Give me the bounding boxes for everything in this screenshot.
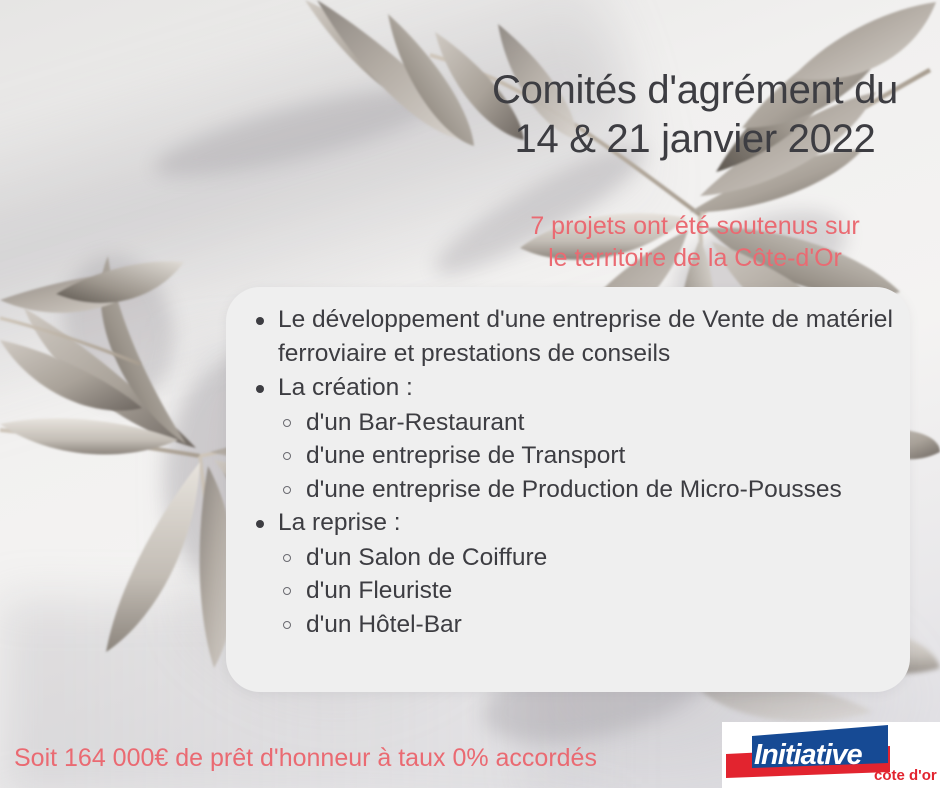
list-item: d'une entreprise de Transport xyxy=(283,439,898,473)
list-item-label: Le développement d'une entreprise de Ven… xyxy=(278,303,898,370)
hollow-bullet-icon xyxy=(283,419,291,427)
list-item: La reprise : xyxy=(242,506,898,540)
list-item-label: d'une entreprise de Production de Micro-… xyxy=(306,476,842,503)
hollow-bullet-icon xyxy=(283,587,291,595)
hollow-bullet-icon xyxy=(283,452,291,460)
list-item-label: d'une entreprise de Transport xyxy=(306,442,625,469)
projects-sublist-creation: d'un Bar-Restaurant d'une entreprise de … xyxy=(242,406,898,507)
bullet-icon xyxy=(256,520,264,528)
bullet-icon xyxy=(256,317,264,325)
list-item-label: d'un Bar-Restaurant xyxy=(306,409,525,436)
poster-subtitle: 7 projets ont été soutenus sur le territ… xyxy=(480,210,910,274)
projects-list: Le développement d'une entreprise de Ven… xyxy=(242,303,898,641)
hollow-bullet-icon xyxy=(283,486,291,494)
list-item: La création : xyxy=(242,371,898,405)
list-item: d'une entreprise de Production de Micro-… xyxy=(283,473,898,507)
projects-card-content: Le développement d'une entreprise de Ven… xyxy=(242,303,898,641)
projects-card: Le développement d'une entreprise de Ven… xyxy=(226,287,910,692)
list-item: d'un Salon de Coiffure xyxy=(283,541,898,575)
list-item-label: d'un Salon de Coiffure xyxy=(306,544,547,571)
list-item: d'un Fleuriste xyxy=(283,574,898,608)
poster-subtitle-line-2: le territoire de la Côte-d'Or xyxy=(480,242,910,274)
poster-canvas: Comités d'agrément du 14 & 21 janvier 20… xyxy=(0,0,940,788)
list-item: d'un Bar-Restaurant xyxy=(283,406,898,440)
list-item: d'un Hôtel-Bar xyxy=(283,608,898,642)
logo-tagline: côte d'or xyxy=(874,767,937,784)
poster-subtitle-line-1: 7 projets ont été soutenus sur xyxy=(480,210,910,242)
bullet-icon xyxy=(256,385,264,393)
poster-title: Comités d'agrément du 14 & 21 janvier 20… xyxy=(470,66,920,164)
hollow-bullet-icon xyxy=(283,554,291,562)
poster-title-line-2: 14 & 21 janvier 2022 xyxy=(470,115,920,164)
list-item-label: La reprise : xyxy=(278,506,898,540)
list-item: Le développement d'une entreprise de Ven… xyxy=(242,303,898,370)
initiative-cote-dor-logo: Initiative côte d'or xyxy=(722,722,940,788)
hollow-bullet-icon xyxy=(283,621,291,629)
poster-title-line-1: Comités d'agrément du xyxy=(470,66,920,115)
footer-note: Soit 164 000€ de prêt d'honneur à taux 0… xyxy=(14,742,597,774)
logo-wordmark: Initiative xyxy=(754,739,863,771)
projects-sublist-reprise: d'un Salon de Coiffure d'un Fleuriste d'… xyxy=(242,541,898,642)
list-item-label: d'un Hôtel-Bar xyxy=(306,611,462,638)
list-item-label: d'un Fleuriste xyxy=(306,577,452,604)
list-item-label: La création : xyxy=(278,371,898,405)
logo-artwork: Initiative côte d'or xyxy=(722,722,940,788)
